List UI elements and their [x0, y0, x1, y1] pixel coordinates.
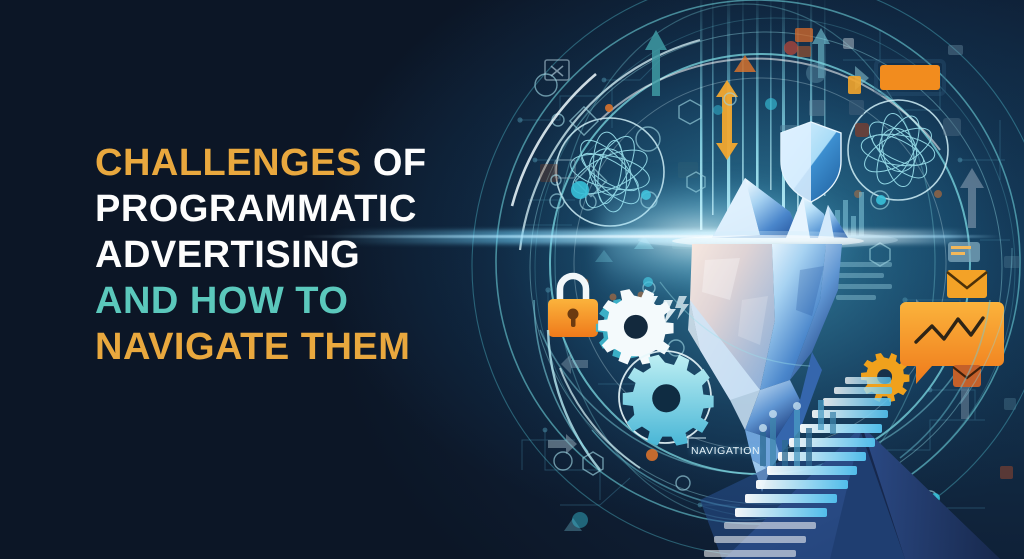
hero-banner: NAVIGATION CHALLENGES OF PROGRAMMATIC AD…	[0, 0, 1024, 559]
headline-line-5: NAVIGATE THEM	[95, 324, 427, 370]
padlock-icon	[548, 276, 598, 337]
headline-challenges: CHALLENGES	[95, 142, 362, 184]
headline-line-1: CHALLENGES OF	[95, 140, 427, 186]
headline-of: OF	[373, 142, 427, 184]
gear-icon-white	[598, 289, 673, 364]
navigation-label: NAVIGATION	[691, 445, 760, 457]
headline-line-3: ADVERTISING	[95, 232, 427, 278]
shield-icon	[781, 122, 841, 202]
headline-line-4: AND HOW TO	[95, 278, 427, 324]
headline-block: CHALLENGES OF PROGRAMMATIC ADVERTISING A…	[95, 140, 427, 370]
gear-icon-large	[619, 351, 714, 446]
headline-line-2: PROGRAMMATIC	[95, 186, 427, 232]
